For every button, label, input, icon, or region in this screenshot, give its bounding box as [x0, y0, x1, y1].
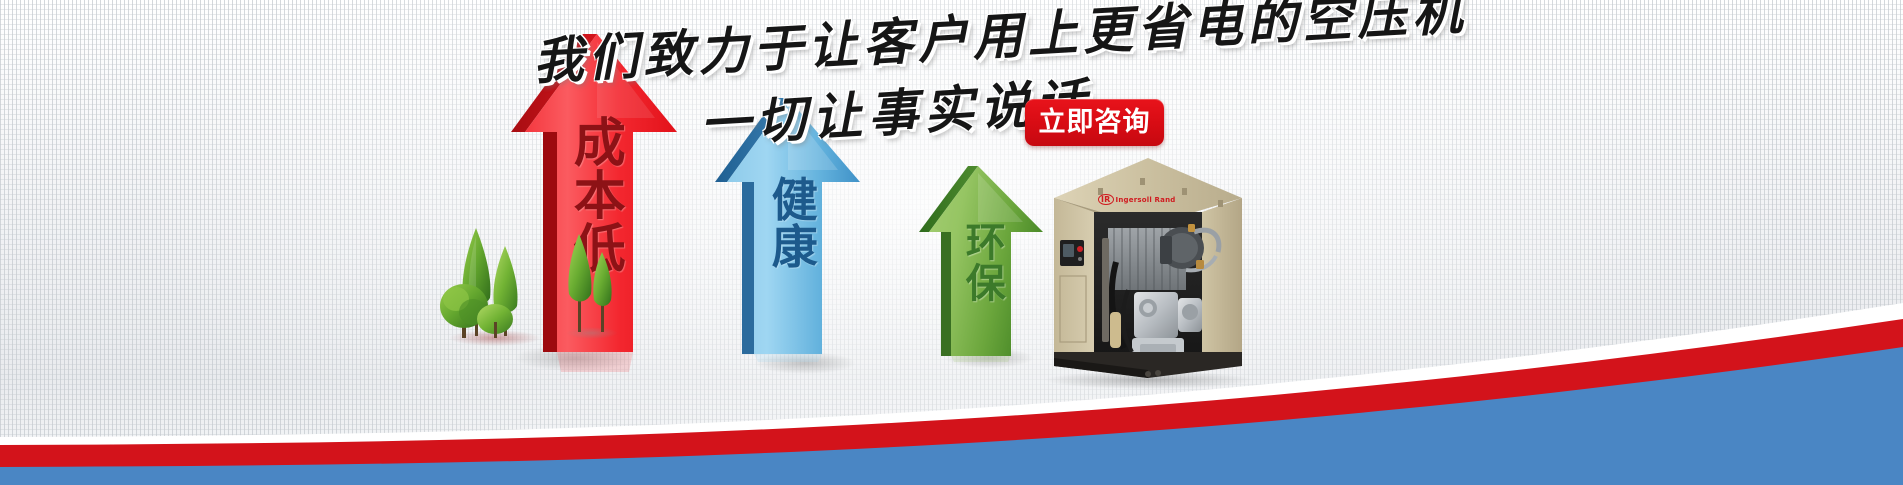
bottom-wave [0, 285, 1903, 485]
consult-now-button[interactable]: 立即咨询 [1025, 99, 1164, 146]
promo-banner: 成 本 低 [0, 0, 1903, 485]
air-compressor-image: IRIngersoll Rand [1036, 152, 1258, 388]
consult-now-button-label: 立即咨询 [1039, 109, 1151, 136]
